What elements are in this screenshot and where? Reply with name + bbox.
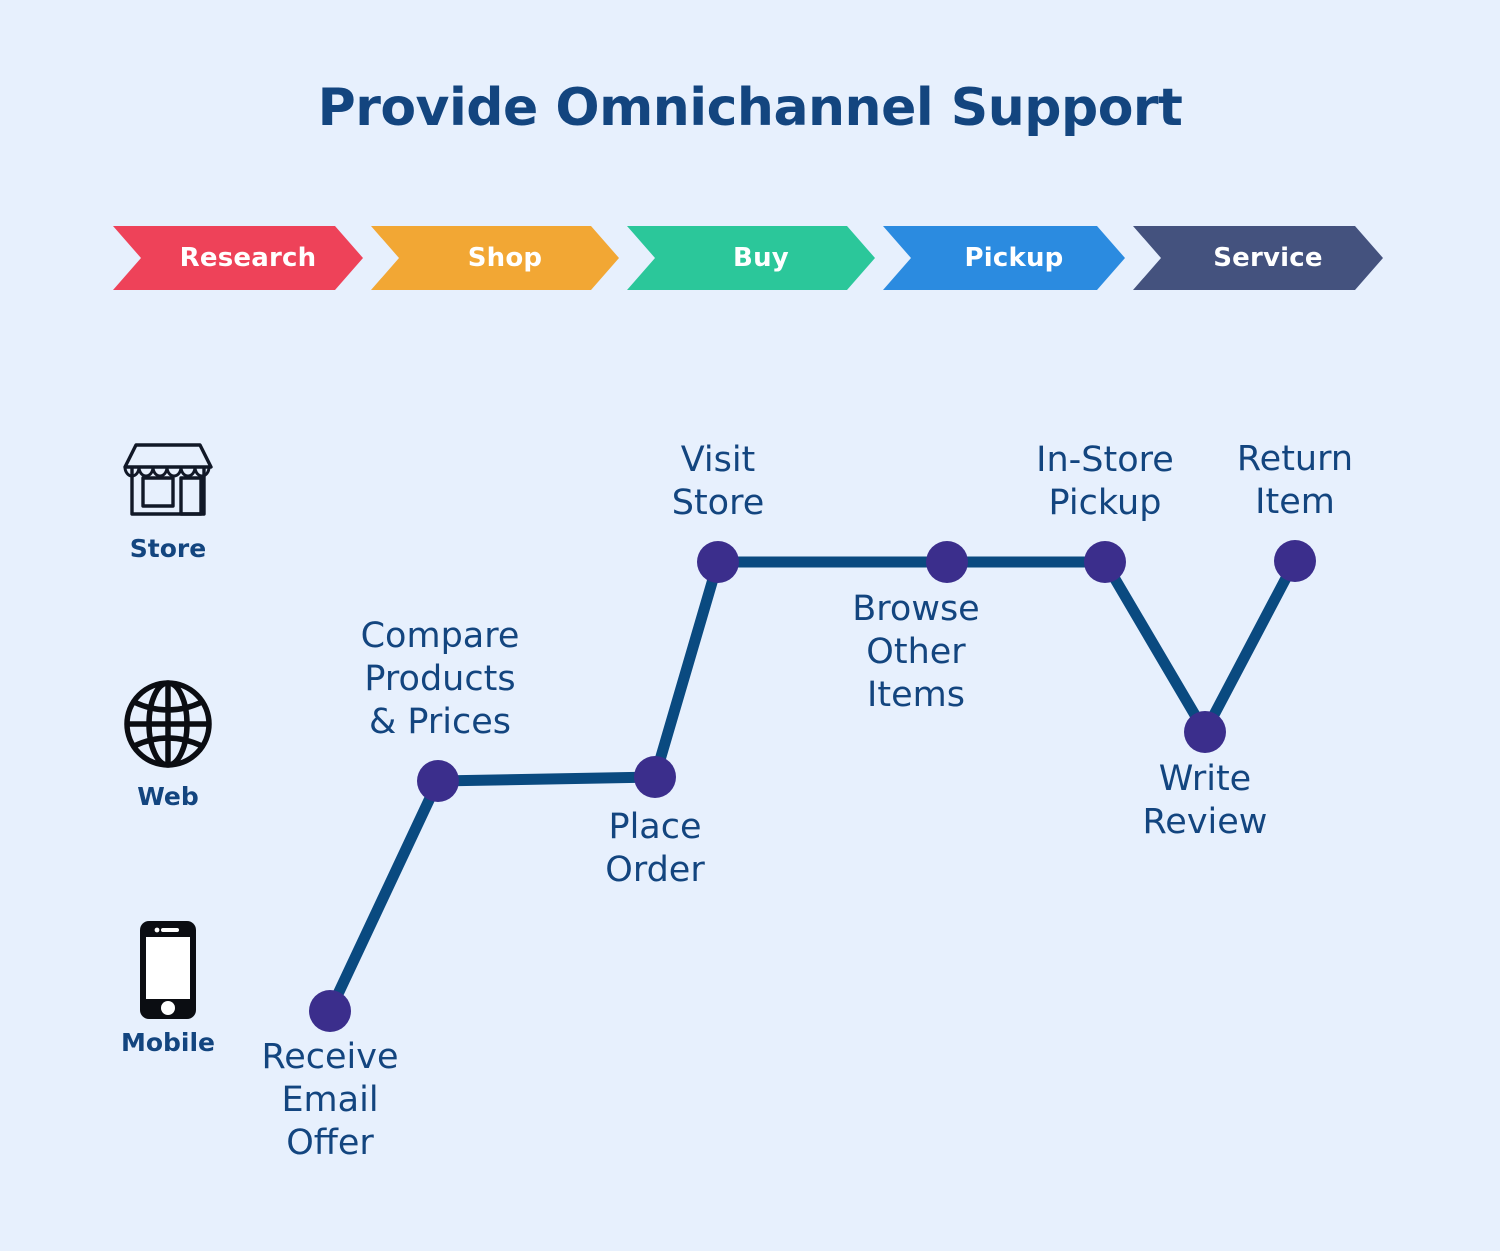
channel-row-web: Web	[112, 672, 224, 811]
journey-node-label: Visit Store	[672, 439, 765, 525]
journey-map	[0, 0, 1500, 1251]
stage-chevron-research[interactable]: Research	[113, 226, 363, 290]
channel-row-mobile: Mobile	[112, 918, 224, 1057]
stage-chevron-label: Research	[160, 243, 317, 273]
channel-label-mobile: Mobile	[112, 1028, 224, 1057]
journey-segment	[1205, 561, 1295, 732]
stage-chevron-label: Buy	[713, 243, 789, 273]
journey-node-label: In-Store Pickup	[1036, 439, 1174, 525]
stage-chevron-label: Shop	[448, 243, 543, 273]
journey-node[interactable]	[417, 760, 459, 802]
channel-label-store: Store	[112, 534, 224, 563]
storefront-icon	[112, 424, 224, 528]
stage-chevron-buy[interactable]: Buy	[627, 226, 875, 290]
journey-node-label: Browse Other Items	[852, 588, 979, 717]
page-title: Provide Omnichannel Support	[0, 78, 1500, 138]
journey-segment	[438, 777, 655, 781]
journey-node[interactable]	[1184, 711, 1226, 753]
stage-chevron-pickup[interactable]: Pickup	[883, 226, 1125, 290]
journey-node[interactable]	[1274, 540, 1316, 582]
journey-segment	[330, 781, 438, 1011]
journey-node[interactable]	[697, 541, 739, 583]
journey-node-label: Return Item	[1237, 438, 1353, 524]
globe-icon	[112, 672, 224, 776]
journey-segment	[655, 562, 718, 777]
journey-segment	[1105, 562, 1205, 732]
journey-node-label: Compare Products & Prices	[361, 615, 520, 744]
stage-chevron-shop[interactable]: Shop	[371, 226, 619, 290]
stage-chevron-label: Pickup	[945, 243, 1064, 273]
journey-node[interactable]	[309, 990, 351, 1032]
stage-banner: Research Shop Buy Pickup Service	[113, 226, 1383, 290]
journey-node-label: Write Review	[1143, 758, 1268, 844]
channel-row-store: Store	[112, 424, 224, 563]
smartphone-icon	[112, 918, 224, 1022]
journey-node-label: Receive Email Offer	[261, 1036, 398, 1165]
journey-node[interactable]	[926, 541, 968, 583]
journey-node[interactable]	[634, 756, 676, 798]
stage-chevron-label: Service	[1193, 243, 1323, 273]
stage-chevron-service[interactable]: Service	[1133, 226, 1383, 290]
channel-label-web: Web	[112, 782, 224, 811]
journey-node[interactable]	[1084, 541, 1126, 583]
journey-node-label: Place Order	[605, 806, 704, 892]
